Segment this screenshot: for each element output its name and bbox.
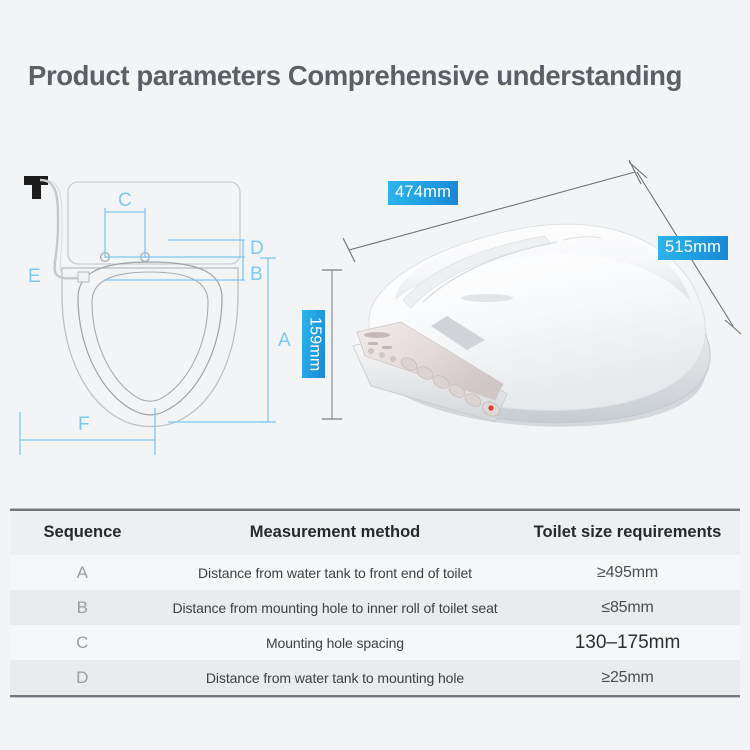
column-header-sequence: Sequence: [10, 511, 155, 555]
water-tank-outline: [68, 182, 240, 264]
table-row: D Distance from water tank to mounting h…: [10, 660, 740, 695]
dimension-badge-width: 474mm: [388, 181, 458, 205]
product-parameters-page: Product parameters Comprehensive underst…: [0, 0, 750, 750]
seat-ring-inner: [92, 272, 208, 401]
cell-method-c: Mounting hole spacing: [155, 625, 515, 660]
panel-status-label-1: [368, 342, 378, 345]
dimension-badge-length: 515mm: [658, 236, 728, 260]
cell-requirement-d: ≥25mm: [515, 660, 740, 695]
toilet-dimension-diagram: E C D B: [0, 150, 340, 490]
column-header-requirement: Toilet size requirements: [515, 511, 740, 555]
cell-method-b: Distance from mounting hole to inner rol…: [155, 590, 515, 625]
dimension-label-D: D: [250, 238, 264, 259]
cell-method-d: Distance from water tank to mounting hol…: [155, 660, 515, 695]
table-row: B Distance from mounting hole to inner r…: [10, 590, 740, 625]
dimension-label-B: B: [250, 264, 263, 285]
dimension-label-A: A: [278, 330, 291, 351]
cell-sequence-d: D: [10, 660, 155, 695]
cell-requirement-c: 130–175mm: [515, 625, 740, 660]
spec-table-container: Sequence Measurement method Toilet size …: [10, 508, 740, 698]
brand-mark: [461, 294, 513, 302]
cell-sequence-b: B: [10, 590, 155, 625]
column-header-method: Measurement method: [155, 511, 515, 555]
panel-brand-mark: [364, 332, 390, 338]
page-title: Product parameters Comprehensive underst…: [28, 60, 728, 92]
dimension-D-group: [105, 240, 245, 257]
cell-requirement-b: ≤85mm: [515, 590, 740, 625]
table-header-row: Sequence Measurement method Toilet size …: [10, 511, 740, 555]
toilet-body-outline: [62, 268, 238, 427]
cell-sequence-c: C: [10, 625, 155, 660]
dimension-line-159: [320, 262, 344, 427]
power-indicator-led: [488, 405, 493, 410]
dimension-label-E: E: [28, 266, 41, 287]
water-supply-hose-inner: [44, 180, 62, 274]
cell-requirement-a: ≥495mm: [515, 555, 740, 590]
table-bottom-rule: [10, 695, 740, 698]
panel-status-label-2: [382, 346, 392, 349]
dimension-label-C: C: [118, 190, 132, 211]
cell-sequence-a: A: [10, 555, 155, 590]
toilet-size-requirements-table: Sequence Measurement method Toilet size …: [10, 511, 740, 695]
table-row: A Distance from water tank to front end …: [10, 555, 740, 590]
table-row: C Mounting hole spacing 130–175mm: [10, 625, 740, 660]
hose-connector: [78, 272, 89, 282]
dimension-C-group: [105, 208, 145, 258]
cell-method-a: Distance from water tank to front end of…: [155, 555, 515, 590]
dimension-label-F: F: [78, 414, 90, 435]
technical-drawing-panel: E C D B: [0, 150, 340, 490]
